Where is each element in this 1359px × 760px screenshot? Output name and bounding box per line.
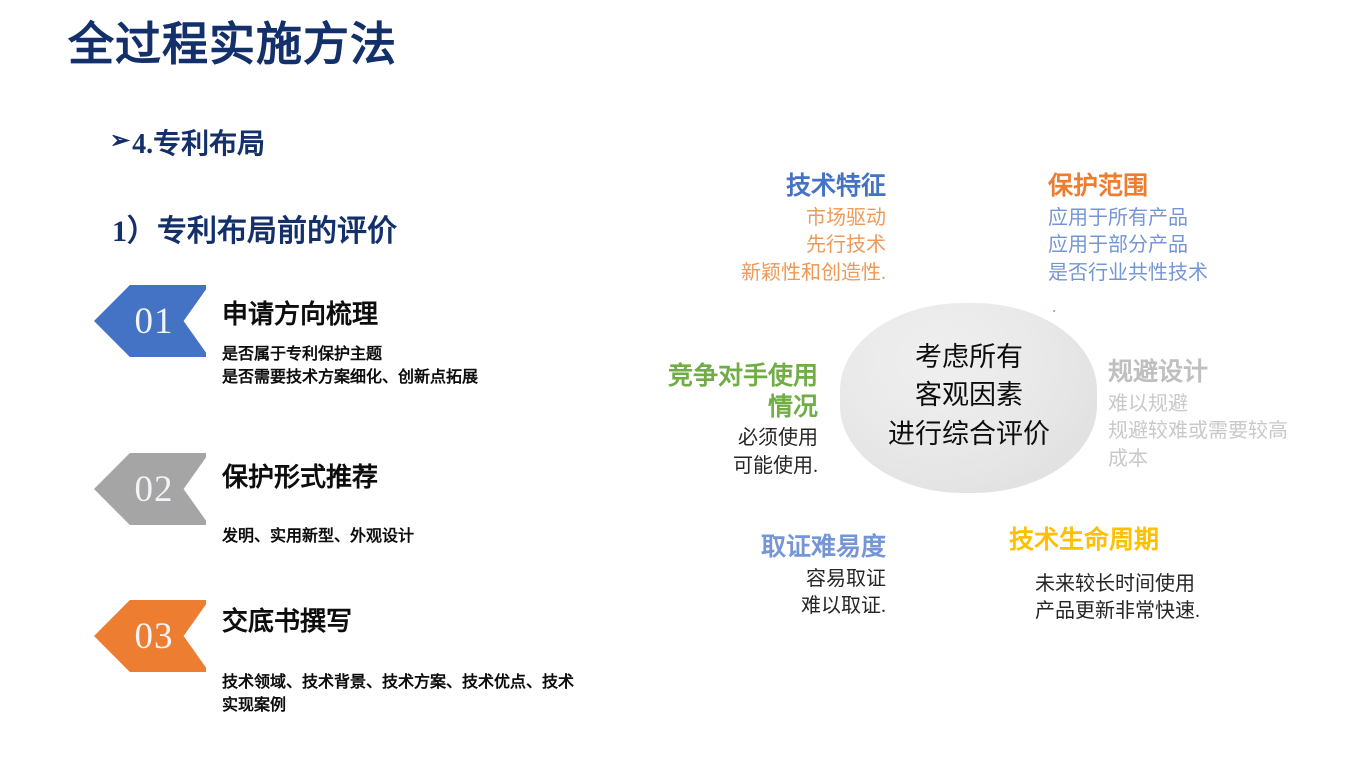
cluster-tech-lifecycle: 技术生命周期 未来较长时间使用 产品更新非常快速.: [1009, 526, 1269, 626]
cluster-title-design-around: 规避设计: [1108, 358, 1348, 389]
cluster-tech-feature: 技术特征 市场驱动 先行技术 新颖性和创造性.: [640, 172, 886, 287]
center-blob-text: 考虑所有 客观因素 进行综合评价: [845, 338, 1093, 453]
cluster-body-tech-feature: 市场驱动 先行技术 新颖性和创造性.: [640, 205, 886, 288]
step-desc-02: 发明、实用新型、外观设计: [222, 526, 414, 549]
step-item-03: 03 交底书撰写 技术领域、技术背景、技术方案、技术优点、技术 实现案例: [94, 600, 714, 730]
chevron-shape-02: 02: [94, 453, 206, 525]
step-desc-01: 是否属于专利保护主题 是否需要技术方案细化、创新点拓展: [222, 344, 478, 389]
cluster-evidence-difficulty: 取证难易度 容易取证 难以取证.: [668, 533, 886, 621]
page-title: 全过程实施方法: [68, 18, 397, 71]
cluster-title-protection-scope: 保护范围: [1048, 172, 1328, 203]
step-number-02: 02: [135, 468, 174, 511]
step-title-03: 交底书撰写: [222, 601, 352, 638]
chevron-shape-03: 03: [94, 600, 206, 672]
cluster-title-evidence-difficulty: 取证难易度: [668, 533, 886, 564]
cluster-body-tech-lifecycle: 未来较长时间使用 产品更新非常快速.: [1035, 571, 1269, 626]
chevron-shape-01: 01: [94, 285, 206, 357]
arrow-bullet-icon: ➢: [110, 129, 130, 153]
slide-canvas: 全过程实施方法 ➢ 4.专利布局 1）专利布局前的评价 01 申请方向梳理 是否…: [0, 0, 1359, 760]
step-desc-03: 技术领域、技术背景、技术方案、技术优点、技术 实现案例: [222, 672, 574, 717]
step-title-02: 保护形式推荐: [222, 457, 378, 494]
cluster-title-competitor-usage: 竞争对手使用 情况: [614, 362, 818, 423]
step-number-03: 03: [135, 615, 174, 658]
cluster-title-tech-lifecycle: 技术生命周期: [1009, 526, 1269, 557]
bullet-label: 4.专利布局: [132, 122, 265, 162]
section-heading: 1）专利布局前的评价: [112, 206, 397, 250]
cluster-design-around: 规避设计 难以规避 规避较难或需要较高 成本: [1108, 358, 1348, 473]
cluster-body-protection-scope: 应用于所有产品 应用于部分产品 是否行业共性技术: [1048, 205, 1328, 288]
cluster-title-tech-feature: 技术特征: [640, 172, 886, 203]
bullet-line: ➢ 4.专利布局: [110, 122, 265, 162]
cluster-body-competitor-usage: 必须使用 可能使用.: [614, 425, 818, 480]
cluster-body-design-around: 难以规避 规避较难或需要较高 成本: [1108, 391, 1348, 474]
cluster-protection-scope: 保护范围 应用于所有产品 应用于部分产品 是否行业共性技术: [1048, 172, 1328, 287]
step-title-01: 申请方向梳理: [222, 294, 378, 331]
step-number-01: 01: [135, 300, 174, 343]
stray-dot-protection-scope: .: [1052, 296, 1057, 317]
cluster-competitor-usage: 竞争对手使用 情况 必须使用 可能使用.: [614, 362, 818, 480]
cluster-body-evidence-difficulty: 容易取证 难以取证.: [668, 566, 886, 621]
